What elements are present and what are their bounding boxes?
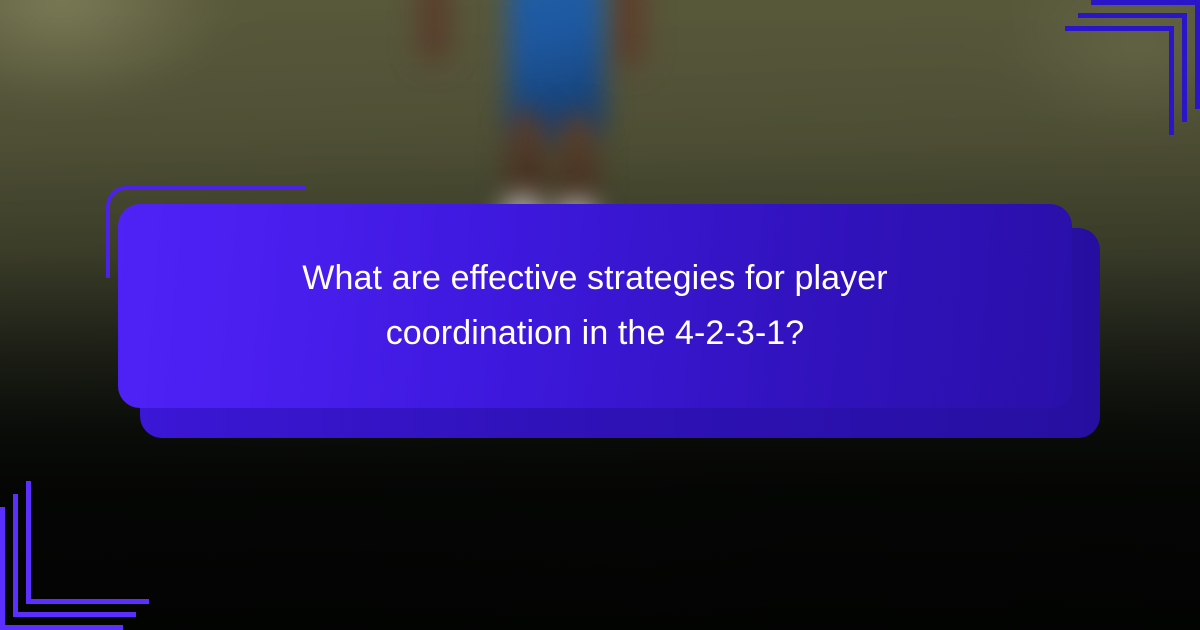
corner-bracket-bottom-left-3 <box>26 481 149 604</box>
social-card-canvas: What are effective strategies for player… <box>0 0 1200 630</box>
corner-bracket-top-right-3 <box>1065 26 1174 135</box>
quote-text: What are effective strategies for player… <box>215 251 975 361</box>
quote-card: What are effective strategies for player… <box>118 204 1072 408</box>
